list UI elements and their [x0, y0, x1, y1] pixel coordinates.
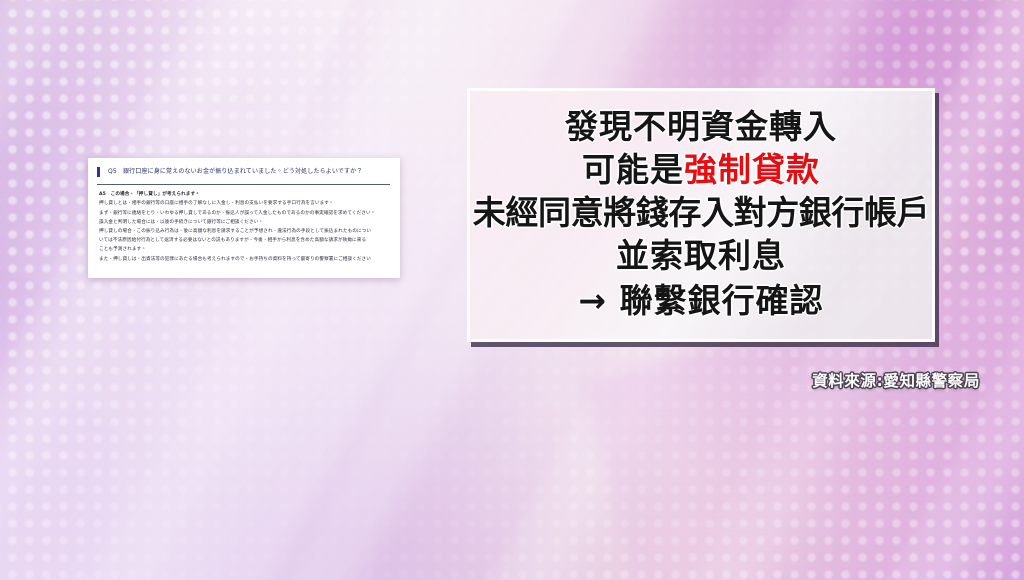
document-answer-line: A5 この場合、「押し貸し」が考えられます。: [99, 191, 389, 199]
headline-line-3: 未經同意將錢存入對方銀行帳戶: [470, 192, 932, 235]
headline-line-2: 可能是強制貸款: [470, 149, 932, 192]
headline-line-5-text: 聯繫銀行確認: [620, 281, 824, 320]
headline-panel: 發現不明資金轉入 可能是強制貸款 未經同意將錢存入對方銀行帳戶 並索取利息 → …: [467, 88, 935, 342]
source-credit: 資料來源:愛知縣警察局: [812, 369, 980, 391]
news-graphic-stage: Q5 銀行口座に身に覚えのないお金が振り込まれていました。どう対処したらよいです…: [0, 0, 1024, 580]
document-answer-line: 押し貸しとは、相手の銀行等の口座に相手の了解なしに入金し、利息の支払いを要求する…: [99, 200, 389, 208]
document-answer-line: ことも予測されます。: [99, 246, 389, 254]
document-answer-line: 押し貸しの場合、この振り込み行為は、後に高額な利息を請求することが予想され、違法…: [99, 228, 389, 236]
document-answer-line: 誤入金と判明した場合には、以後の手続きについて銀行等にご相談ください。: [99, 219, 389, 227]
headline-line-4: 並索取利息: [470, 235, 932, 278]
source-document-card: Q5 銀行口座に身に覚えのないお金が振り込まれていました。どう対処したらよいです…: [88, 158, 400, 278]
document-divider: [97, 184, 390, 185]
headline-line-2-prefix: 可能是: [582, 150, 684, 189]
document-answer-body: A5 この場合、「押し貸し」が考えられます。 押し貸しとは、相手の銀行等の口座に…: [99, 191, 389, 263]
document-answer-line: まず、銀行等に連絡をとり、いわゆる押し貸しであるのか、振込人が誤って入金したもの…: [99, 210, 389, 218]
right-arrow-icon: →: [578, 281, 607, 320]
headline-highlight-term: 強制貸款: [684, 150, 820, 189]
headline-text-block: 發現不明資金轉入 可能是強制貸款 未經同意將錢存入對方銀行帳戶 並索取利息 → …: [470, 106, 932, 323]
document-answer-line: また、押し貸しは、出資法等の犯罪にあたる場合も考えられますので、お手持ちの資料を…: [99, 256, 389, 264]
headline-line-1: 發現不明資金轉入: [470, 106, 932, 149]
document-answer-line: いては不法原因給付行為として返済する必要はないとの説もありますが、今後、相手から…: [99, 237, 389, 245]
headline-line-5: → 聯繫銀行確認: [470, 278, 932, 324]
document-question-text: Q5 銀行口座に身に覚えのないお金が振り込まれていました。どう対処したらよいです…: [97, 167, 390, 177]
